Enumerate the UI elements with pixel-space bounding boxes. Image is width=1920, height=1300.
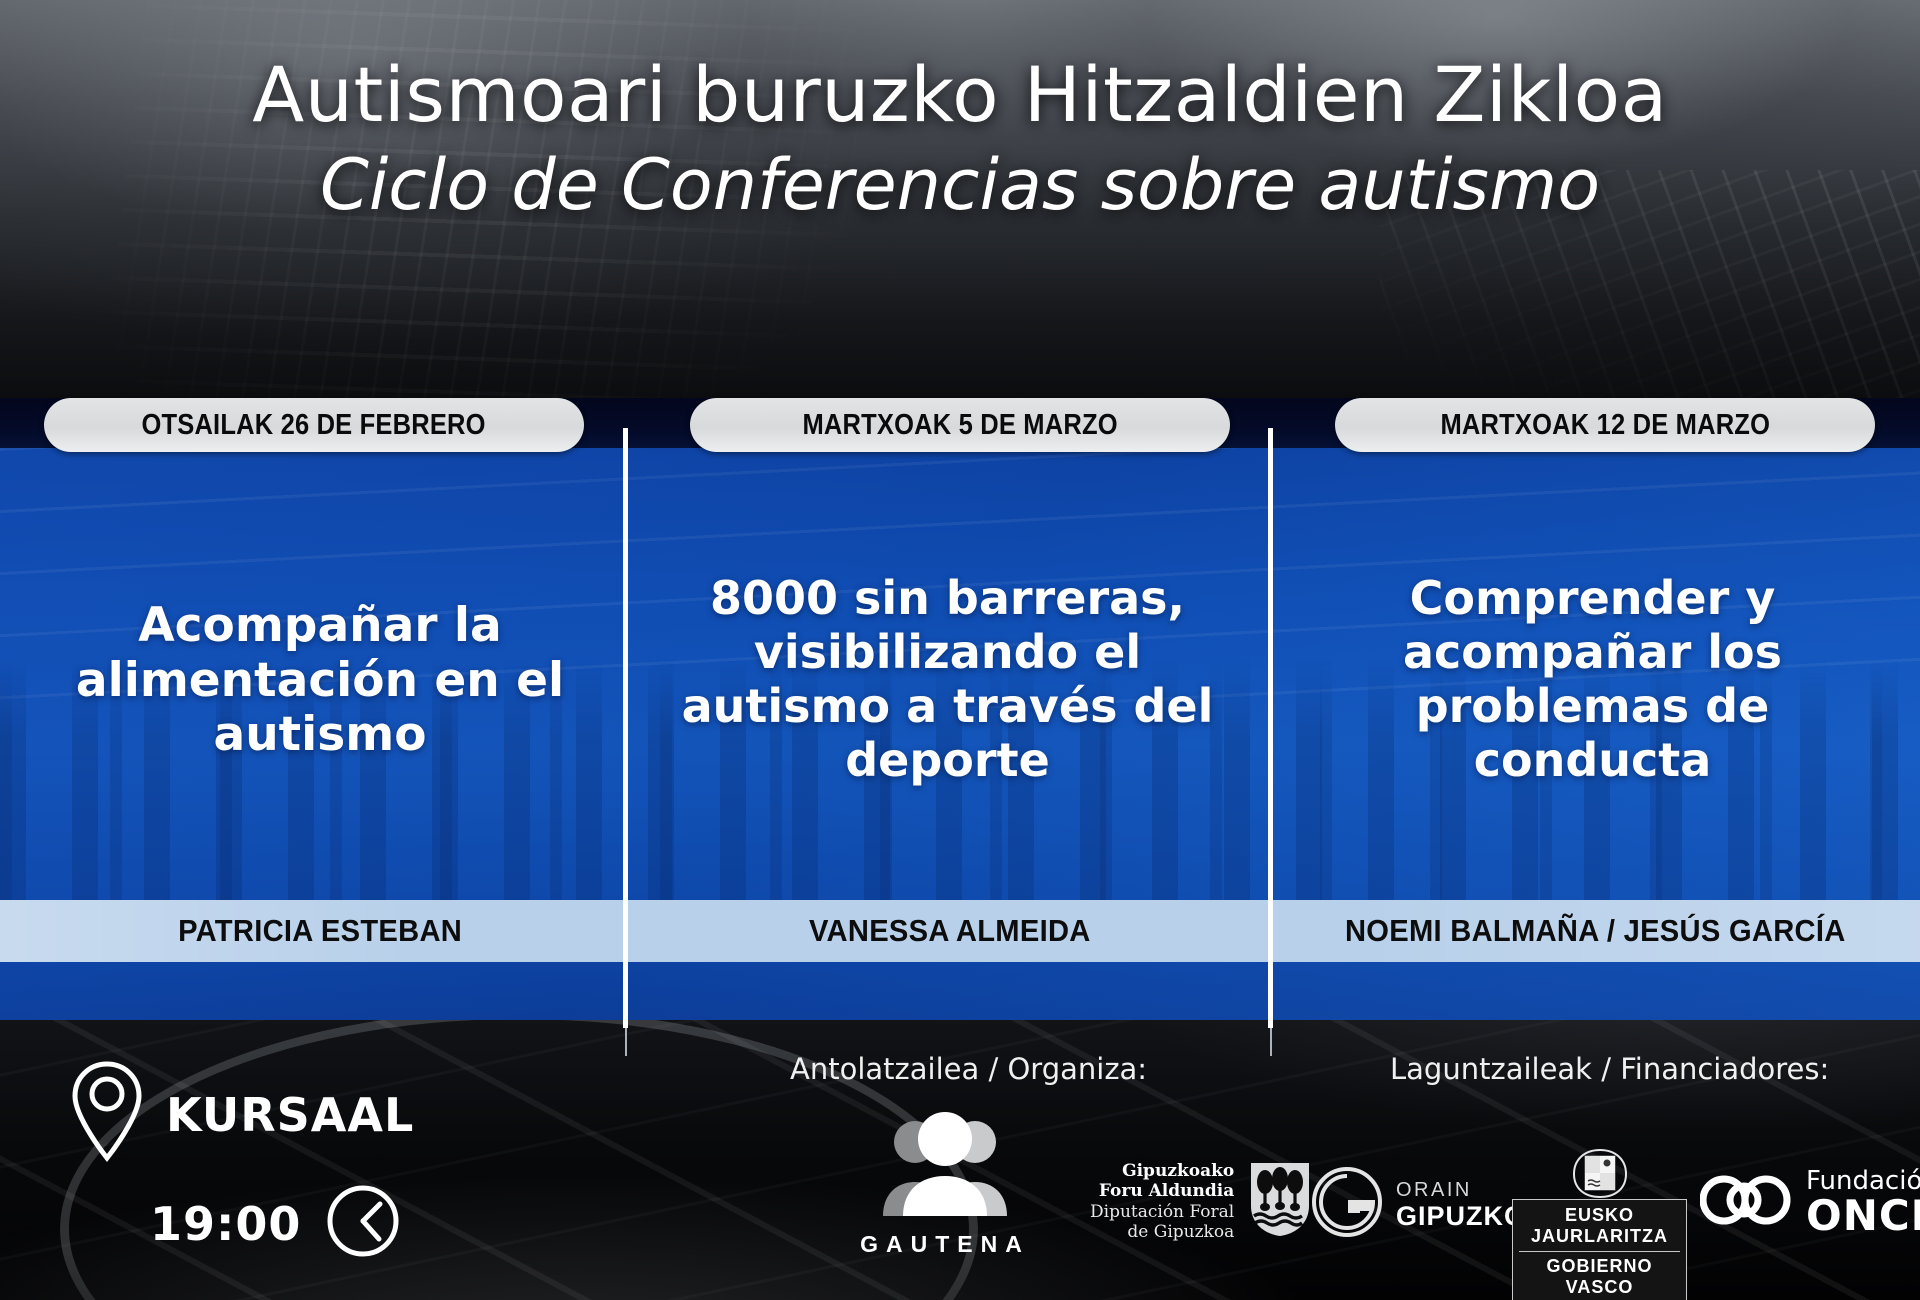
speaker-label: PATRICIA ESTEBAN	[178, 913, 462, 949]
dfg-line-eu-2: Foru Aldundia	[1090, 1181, 1234, 1201]
ej-line-1: EUSKO JAURLARITZA	[1519, 1205, 1680, 1247]
venue-time-block: KURSAAL 19:00	[70, 1060, 450, 1260]
talk-title: 8000 sin barreras, visibilizando el auti…	[650, 572, 1245, 787]
gautena-wordmark: GAUTENA	[855, 1231, 1035, 1258]
talk-title: Comprender y acompañar los problemas de …	[1295, 572, 1890, 787]
dfg-line-eu-1: Gipuzkoako	[1090, 1161, 1234, 1181]
people-group-icon	[859, 1205, 1031, 1222]
once-line-2: ONCE	[1806, 1195, 1920, 1237]
date-badge-label: OTSAILAK 26 DE FEBRERO	[142, 409, 486, 442]
date-badge-session-3: MARTXOAK 12 DE MARZO	[1335, 398, 1875, 452]
column-divider-1	[623, 428, 628, 1028]
dfg-line-es-2: de Gipuzkoa	[1090, 1222, 1234, 1242]
ej-line-2: GOBIERNO VASCO	[1519, 1256, 1680, 1298]
column-divider-2	[1268, 428, 1273, 1028]
session-column-1: Acompañar la alimentación en el autismo	[30, 470, 610, 890]
date-badge-label: MARTXOAK 5 DE MARZO	[802, 409, 1117, 442]
speaker-label: VANESSA ALMEIDA	[809, 913, 1091, 949]
speaker-name-3: NOEMI BALMAÑA / JESÚS GARCÍA	[1285, 900, 1905, 962]
funders-label: Laguntzaileak / Financiadores:	[1390, 1052, 1829, 1086]
eusko-jaurlaritza-logo: EUSKO JAURLARITZA GOBIERNO VASCO	[1512, 1148, 1687, 1300]
map-pin-icon	[70, 1060, 144, 1169]
poster-title: Autismoari buruzko Hitzaldien Zikloa Cic…	[0, 52, 1920, 227]
speaker-name-2: VANESSA ALMEIDA	[655, 900, 1245, 962]
speaker-label: NOEMI BALMAÑA / JESÚS GARCÍA	[1345, 913, 1846, 949]
date-badge-label: MARTXOAK 12 DE MARZO	[1440, 409, 1770, 442]
session-column-2: 8000 sin barreras, visibilizando el auti…	[650, 470, 1245, 890]
column-divider-1-tail	[625, 1028, 627, 1056]
dfg-line-es-1: Diputación Foral	[1090, 1202, 1234, 1222]
venue-label: KURSAAL	[166, 1088, 414, 1142]
diputacion-foral-gipuzkoa-logo: Gipuzkoako Foru Aldundia Diputación Fora…	[1090, 1160, 1312, 1243]
once-rings-icon	[1700, 1170, 1792, 1235]
column-divider-2-tail	[1270, 1028, 1272, 1056]
orain-g-icon	[1310, 1165, 1384, 1244]
title-basque: Autismoari buruzko Hitzaldien Zikloa	[0, 52, 1920, 137]
clock-icon	[325, 1183, 401, 1264]
time-label: 19:00	[150, 1197, 301, 1251]
gautena-logo: GAUTENA	[855, 1110, 1035, 1258]
talk-title: Acompañar la alimentación en el autismo	[30, 598, 610, 763]
gipuzkoa-shield-icon	[1248, 1160, 1312, 1243]
organizer-label: Antolatzailea / Organiza:	[790, 1052, 1147, 1086]
speaker-name-1: PATRICIA ESTEBAN	[30, 900, 610, 962]
session-column-3: Comprender y acompañar los problemas de …	[1295, 470, 1890, 890]
title-spanish: Ciclo de Conferencias sobre autismo	[0, 143, 1920, 227]
date-badge-session-1: OTSAILAK 26 DE FEBRERO	[44, 398, 584, 452]
fundacion-once-logo: Fundación ONCE	[1700, 1168, 1920, 1237]
conference-poster: Autismoari buruzko Hitzaldien Zikloa Cic…	[0, 0, 1920, 1300]
date-badge-session-2: MARTXOAK 5 DE MARZO	[690, 398, 1230, 452]
basque-crest-icon	[1568, 1187, 1632, 1204]
